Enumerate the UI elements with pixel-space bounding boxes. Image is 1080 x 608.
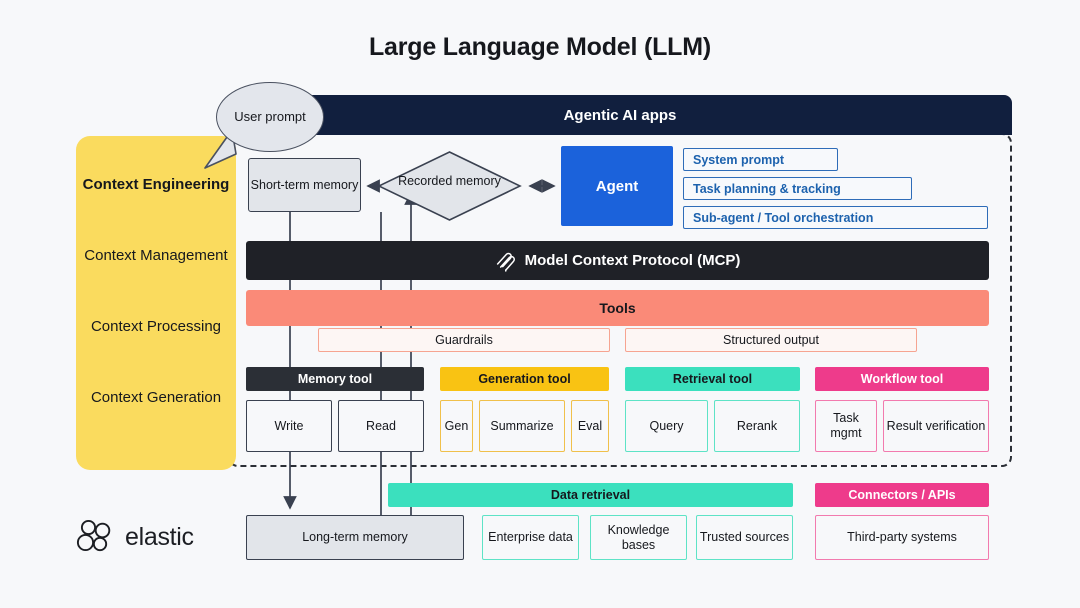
tool-item-gen: Gen	[440, 400, 473, 452]
capability-task-planning: Task planning & tracking	[683, 177, 912, 200]
tool-item-read: Read	[338, 400, 424, 452]
capability-system-prompt: System prompt	[683, 148, 838, 171]
context-engineering-panel: Context Engineering Context Management C…	[76, 136, 236, 470]
elastic-wordmark: elastic	[125, 523, 194, 552]
context-item-processing: Context Processing	[76, 317, 236, 337]
tool-group-header-memory: Memory tool	[246, 367, 424, 391]
mcp-bar: Model Context Protocol (MCP)	[246, 241, 989, 280]
recorded-memory-diamond: Recorded memory	[377, 150, 522, 222]
source-third-party-systems: Third-party systems	[815, 515, 989, 560]
source-knowledge-bases: Knowledge bases	[590, 515, 687, 560]
tools-bar: Tools	[246, 290, 989, 326]
source-enterprise-data: Enterprise data	[482, 515, 579, 560]
short-term-memory-box: Short-term memory	[248, 158, 361, 212]
user-prompt-bubble: User prompt	[216, 82, 324, 152]
connectors-apis-label: Connectors / APIs	[848, 488, 955, 502]
context-item-management: Context Management	[76, 246, 236, 266]
connectors-apis-bar: Connectors / APIs	[815, 483, 989, 507]
agent-box: Agent	[561, 146, 673, 226]
tool-item-eval: Eval	[571, 400, 609, 452]
data-retrieval-label: Data retrieval	[551, 488, 630, 502]
tool-item-rerank: Rerank	[714, 400, 800, 452]
capability-sub-agent-orchestration: Sub-agent / Tool orchestration	[683, 206, 988, 229]
long-term-memory-box: Long-term memory	[246, 515, 464, 560]
mcp-label: Model Context Protocol (MCP)	[525, 252, 741, 269]
elastic-cluster-logo-icon	[76, 519, 116, 555]
tool-group-header-generation: Generation tool	[440, 367, 609, 391]
tool-group-header-workflow: Workflow tool	[815, 367, 989, 391]
tool-item-result-verification: Result verification	[883, 400, 989, 452]
user-prompt-label: User prompt	[234, 109, 306, 125]
diagram-canvas: Large Language Model (LLM) Context Engin…	[0, 0, 1080, 608]
tool-item-query: Query	[625, 400, 708, 452]
source-trusted-sources: Trusted sources	[696, 515, 793, 560]
page-title: Large Language Model (LLM)	[0, 33, 1080, 62]
data-retrieval-bar: Data retrieval	[388, 483, 793, 507]
tools-label: Tools	[599, 300, 635, 316]
tool-feature-structured-output: Structured output	[625, 328, 917, 352]
elastic-logo: elastic	[76, 516, 236, 558]
context-item-engineering: Context Engineering	[76, 175, 236, 195]
tool-item-write: Write	[246, 400, 332, 452]
tool-group-header-retrieval: Retrieval tool	[625, 367, 800, 391]
tool-item-task-mgmt: Task mgmt	[815, 400, 877, 452]
tool-item-summarize: Summarize	[479, 400, 565, 452]
agentic-ai-apps-header: Agentic AI apps	[228, 95, 1012, 135]
tool-feature-guardrails: Guardrails	[318, 328, 610, 352]
recorded-memory-label: Recorded memory	[377, 174, 522, 189]
agentic-ai-apps-label: Agentic AI apps	[564, 107, 677, 124]
mcp-icon	[495, 249, 516, 272]
context-item-generation: Context Generation	[76, 388, 236, 408]
